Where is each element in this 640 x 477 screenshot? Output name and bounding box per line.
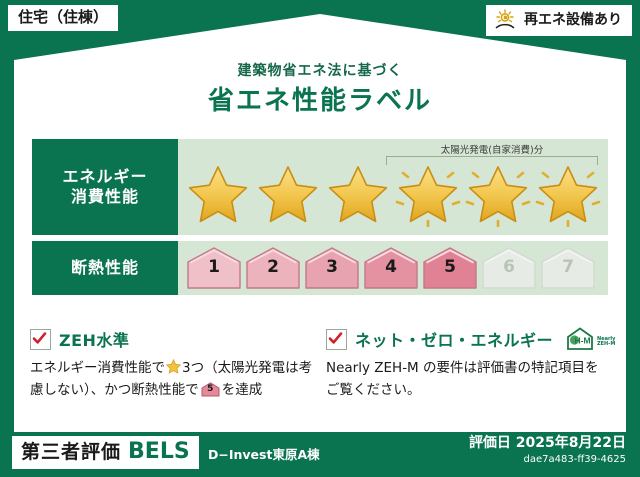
zeh-standard-header: ZEH水準 [30, 327, 314, 351]
insulation-rating-area: 1234567 [178, 241, 608, 295]
bels-label: BELS [128, 441, 190, 463]
insulation-grade-value: 7 [540, 259, 596, 276]
star-6 [534, 161, 602, 227]
inline-grade-value: 5 [201, 385, 220, 394]
building-name: D−Invest東原A棟 [208, 449, 320, 462]
label-subtitle: 建築物省エネ法に基づく [0, 60, 640, 80]
bels-badge: 第三者評価 BELS [12, 436, 199, 469]
zeh-standard-text: エネルギー消費性能で 3つ（太陽光発電は考慮しない）、かつ断熱性能で 5 を達成 [30, 357, 314, 402]
insulation-grade-7: 7 [540, 246, 596, 290]
star-2 [254, 161, 322, 227]
solar-note-label: 太陽光発電(自家消費)分 [386, 142, 598, 156]
net-zero-energy-text: Nearly ZEH-M の要件は評価書の特記項目をご覧ください。 [326, 357, 610, 402]
renewable-badge-label: 再エネ設備あり [524, 13, 622, 27]
energy-performance-row: エネルギー 消費性能 太陽光発電(自家消費)分 [32, 139, 608, 235]
star-icon [166, 359, 181, 374]
star-1 [184, 161, 252, 227]
net-zero-energy-header: ネット・ゼロ・エネルギー H-M Nearly ZEH-M [326, 327, 610, 351]
insulation-grade-1: 1 [186, 246, 242, 290]
insulation-performance-row: 断熱性能 1234567 [32, 241, 608, 295]
insulation-grade-2: 2 [245, 246, 301, 290]
insulation-grade-4: 4 [363, 246, 419, 290]
insulation-grade-6: 6 [481, 246, 537, 290]
grade-house-icon: 5 [201, 382, 220, 397]
insulation-grade-3: 3 [304, 246, 360, 290]
energy-rating-area: 太陽光発電(自家消費)分 [178, 139, 608, 235]
insulation-grade-value: 1 [186, 259, 242, 276]
zeh-m-caption-line2: ZEH-M [597, 341, 615, 347]
insulation-grade-value: 5 [422, 259, 478, 276]
category-badge: 住宅（住棟） [8, 5, 118, 31]
evaluation-info: 評価日 2025年8月22日 dae7a483-ff39-4625 [469, 435, 626, 466]
star-5 [464, 161, 532, 227]
star-4 [394, 161, 462, 227]
energy-performance-label-cell: エネルギー 消費性能 [32, 139, 178, 235]
insulation-grade-5: 5 [422, 246, 478, 290]
zeh-text-part1: エネルギー消費性能で [30, 360, 165, 376]
svg-text:H-M: H-M [574, 336, 590, 346]
check-icon [326, 329, 347, 350]
insulation-grade-value: 4 [363, 259, 419, 276]
zeh-text-part3: を達成 [222, 382, 263, 398]
energy-label-line2: 消費性能 [71, 187, 139, 207]
star-rating [184, 161, 602, 227]
label-title: 省エネ性能ラベル [0, 80, 640, 117]
zeh-standard-section: ZEH水準 エネルギー消費性能で 3つ（太陽光発電は考慮しない）、かつ断熱性能で… [30, 327, 314, 402]
energy-performance-label: 住宅（住棟） 再エネ設備あり 建築物省エネ法に基づく 省エ [0, 0, 640, 477]
renewable-energy-badge: 再エネ設備あり [486, 5, 632, 36]
insulation-grade-scale: 1234567 [186, 246, 596, 290]
net-zero-energy-section: ネット・ゼロ・エネルギー H-M Nearly ZEH-M Nearly ZEH… [326, 327, 610, 402]
insulation-grade-value: 6 [481, 259, 537, 276]
net-zero-energy-title: ネット・ゼロ・エネルギー [355, 327, 553, 351]
sun-icon [494, 9, 518, 31]
third-party-label: 第三者評価 [21, 443, 121, 462]
insulation-label: 断熱性能 [71, 258, 139, 278]
evaluation-id: dae7a483-ff39-4625 [469, 453, 626, 466]
evaluation-date: 評価日 2025年8月22日 [469, 435, 626, 452]
star-3 [324, 161, 392, 227]
zeh-m-caption: Nearly ZEH-M [597, 337, 615, 352]
insulation-grade-value: 2 [245, 259, 301, 276]
zeh-standard-title: ZEH水準 [59, 327, 129, 351]
insulation-grade-value: 3 [304, 259, 360, 276]
check-icon [30, 329, 51, 350]
insulation-label-cell: 断熱性能 [32, 241, 178, 295]
energy-label-line1: エネルギー [62, 167, 147, 187]
category-badge-label: 住宅（住棟） [18, 8, 108, 26]
zeh-m-house-icon: H-M Nearly ZEH-M [565, 327, 615, 351]
